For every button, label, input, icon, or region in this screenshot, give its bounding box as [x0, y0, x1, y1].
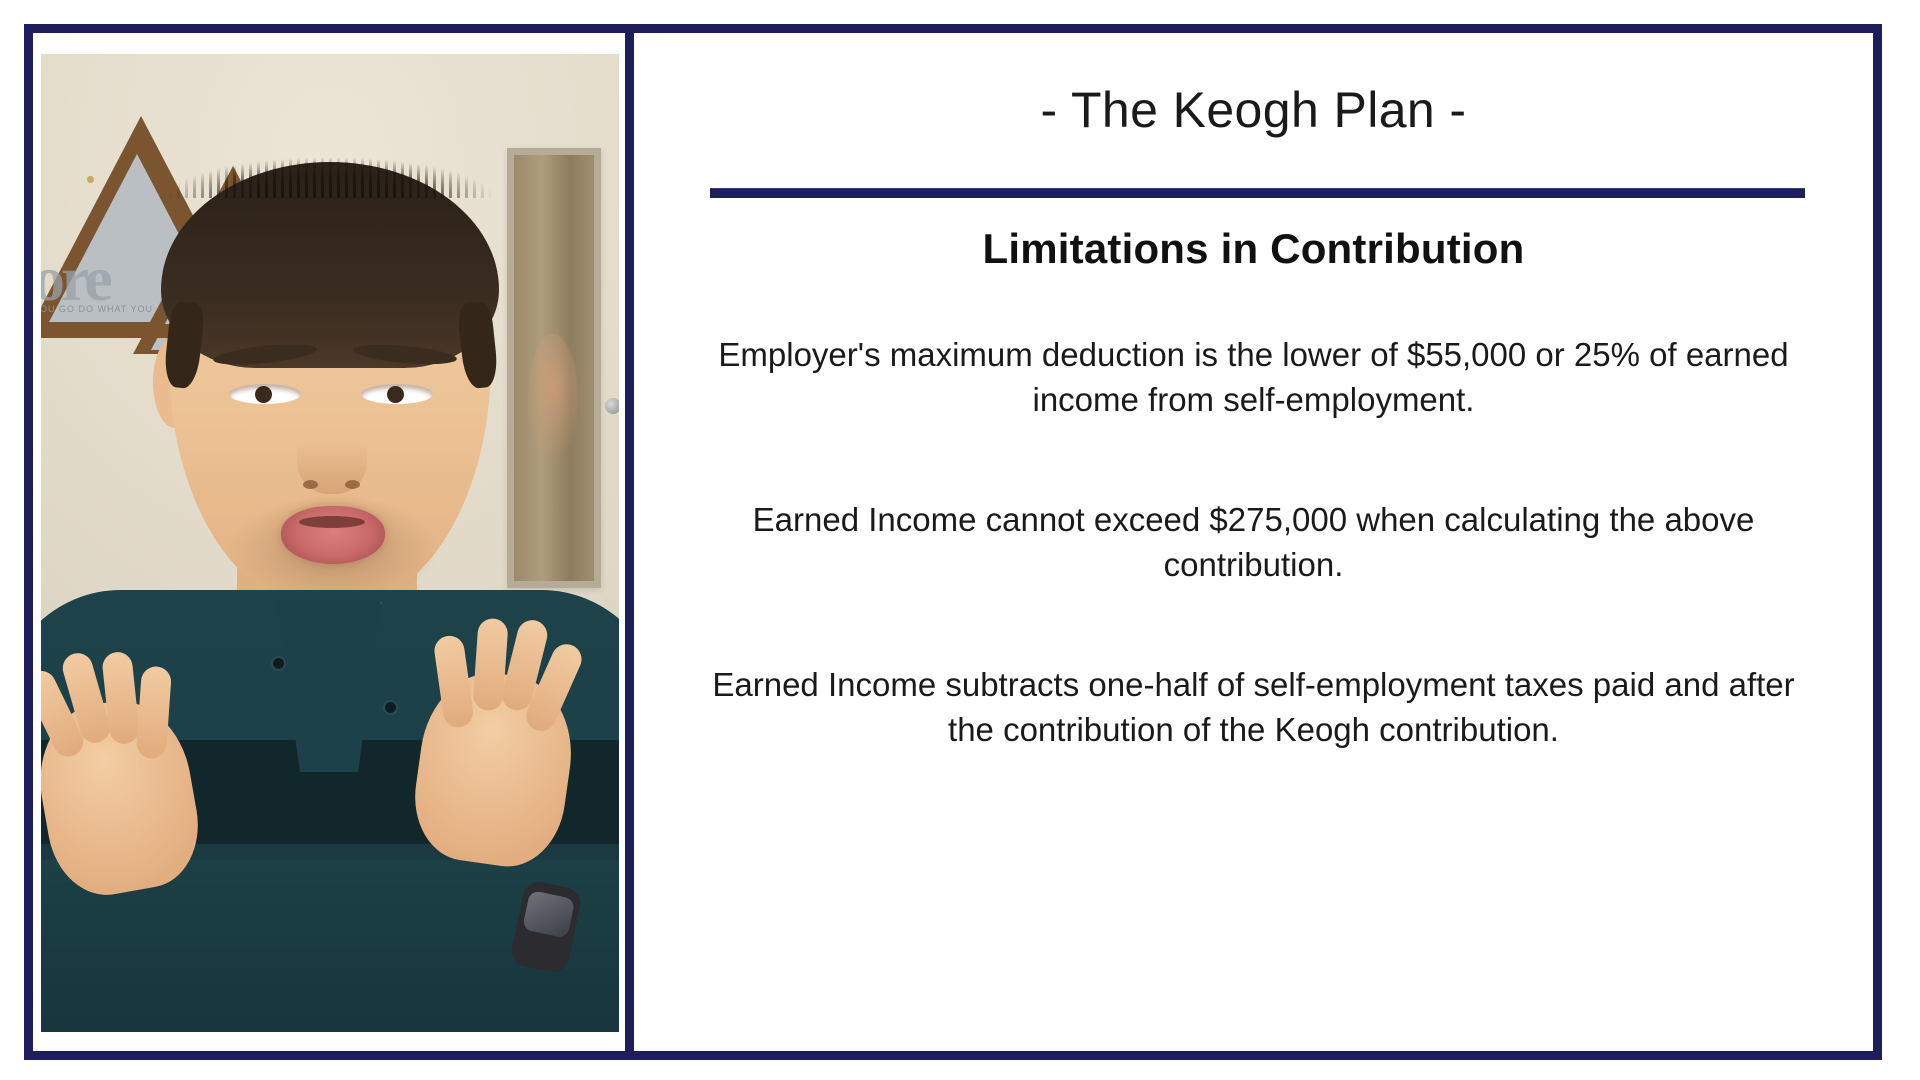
framed-wall-art	[507, 148, 601, 588]
presenter-video[interactable]: ore YOU GO DO WHAT YOU	[41, 54, 619, 1032]
finger	[136, 666, 172, 760]
door-knob-icon	[605, 398, 619, 414]
framed-wall-art-figure	[528, 334, 578, 462]
body-paragraph-1: Employer's maximum deduction is the lowe…	[692, 333, 1815, 422]
presenter-mouth-opening	[299, 516, 365, 528]
presenter-eye-right	[361, 384, 433, 404]
slide-frame: ore YOU GO DO WHAT YOU	[24, 24, 1882, 1060]
presenter-pupil-left	[255, 386, 272, 403]
presenter-pupil-right	[387, 386, 404, 403]
body-paragraph-2: Earned Income cannot exceed $275,000 whe…	[692, 498, 1815, 587]
shirt-button-lower	[385, 702, 396, 713]
text-panel: - The Keogh Plan - Limitations in Contri…	[634, 33, 1873, 1051]
presenter-photo: ore YOU GO DO WHAT YOU	[41, 54, 619, 1032]
body-paragraph-3: Earned Income subtracts one-half of self…	[692, 663, 1815, 752]
presenter-mouth	[281, 506, 385, 564]
section-heading: Limitations in Contribution	[634, 225, 1873, 273]
slide-body: ore YOU GO DO WHAT YOU	[33, 33, 1873, 1051]
body-content: Employer's maximum deduction is the lowe…	[692, 333, 1815, 752]
shirt-button-upper	[273, 658, 284, 669]
title-underline-rule	[710, 188, 1805, 198]
slide-title: - The Keogh Plan -	[634, 81, 1873, 139]
framed-wall-art-inner	[514, 155, 594, 581]
presenter-eye-left	[229, 384, 301, 404]
shelf-knob-icon	[87, 176, 94, 183]
presenter-hair-spikes	[169, 150, 491, 198]
video-panel: ore YOU GO DO WHAT YOU	[33, 33, 625, 1051]
wrist-watch-face	[522, 890, 575, 939]
panel-divider	[625, 33, 634, 1051]
